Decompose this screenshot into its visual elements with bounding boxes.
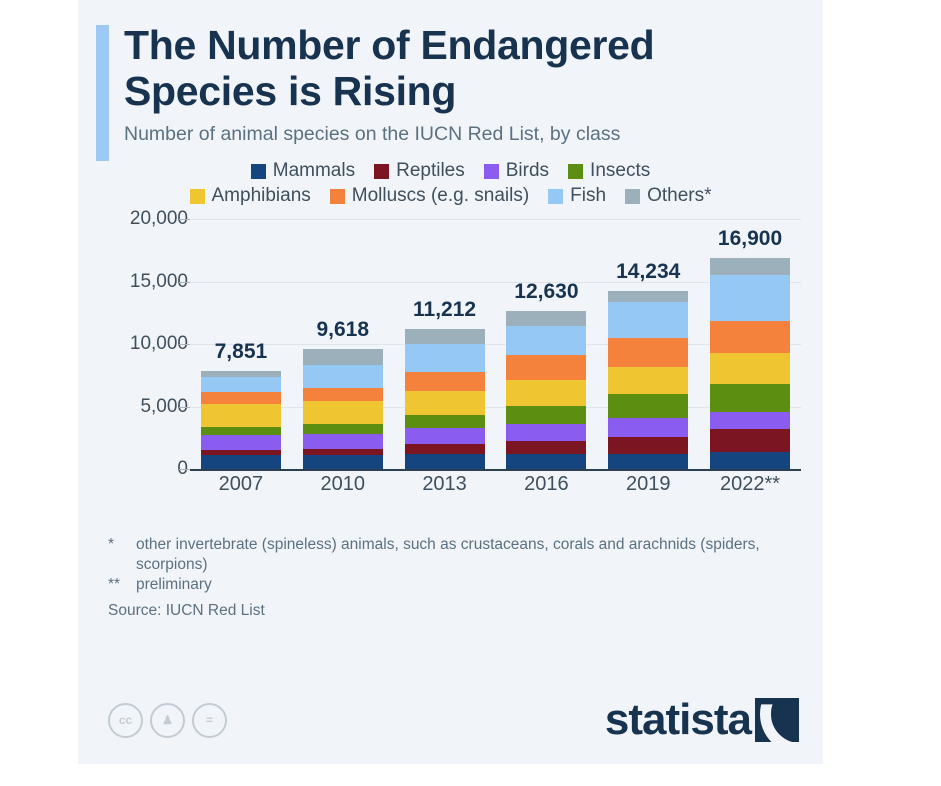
bar-segment[interactable] — [303, 424, 383, 433]
y-tick — [179, 469, 190, 470]
bar-segment[interactable] — [201, 392, 281, 404]
bar-total-label: 9,618 — [316, 318, 369, 342]
bar-segment[interactable] — [710, 275, 790, 321]
footnotes: * other invertebrate (spineless) animals… — [78, 519, 823, 595]
legend-item-fish[interactable]: Fish — [548, 185, 606, 207]
bar-total-label: 14,234 — [616, 260, 680, 284]
legend-item-amphibians[interactable]: Amphibians — [190, 185, 311, 207]
bar-group[interactable]: 11,212 — [405, 219, 485, 469]
legend-label-birds: Birds — [506, 160, 549, 182]
bar-segment[interactable] — [405, 444, 485, 454]
bar-segment[interactable] — [608, 291, 688, 302]
stacked-bar[interactable] — [506, 311, 586, 469]
x-tick-label: 2007 — [201, 473, 281, 496]
bar-segment[interactable] — [608, 437, 688, 454]
bar-segment[interactable] — [608, 338, 688, 366]
legend-label-amphibians: Amphibians — [212, 185, 311, 207]
page-subtitle: Number of animal species on the IUCN Red… — [78, 123, 823, 146]
bar-segment[interactable] — [201, 377, 281, 392]
bar-segment[interactable] — [710, 384, 790, 412]
bar-segment[interactable] — [506, 424, 586, 441]
legend-label-mammals: Mammals — [273, 160, 355, 182]
legend-item-birds[interactable]: Birds — [484, 160, 549, 182]
bar-segment[interactable] — [405, 415, 485, 428]
bar-segment[interactable] — [506, 311, 586, 325]
bar-group[interactable]: 9,618 — [303, 219, 383, 469]
bar-total-label: 16,900 — [718, 227, 782, 251]
cc-nd-equals-icon[interactable]: = — [192, 703, 227, 738]
legend-label-molluscs: Molluscs (e.g. snails) — [352, 185, 529, 207]
legend-swatch-insects — [568, 164, 583, 179]
bar-segment[interactable] — [303, 455, 383, 469]
bar-segment[interactable] — [710, 452, 790, 469]
legend-item-mammals[interactable]: Mammals — [251, 160, 355, 182]
legend-swatch-molluscs — [330, 189, 345, 204]
title-accent-bar — [96, 25, 109, 161]
y-tick — [179, 344, 190, 345]
axis-baseline — [190, 469, 801, 471]
bar-segment[interactable] — [303, 388, 383, 401]
footnote-2: ** preliminary — [108, 575, 797, 595]
bar-group[interactable]: 14,234 — [608, 219, 688, 469]
bar-segment[interactable] — [405, 454, 485, 469]
y-tick-label: 0 — [78, 458, 188, 480]
legend-item-molluscs[interactable]: Molluscs (e.g. snails) — [330, 185, 529, 207]
cc-by-person-icon[interactable]: ♟ — [150, 703, 185, 738]
bar-segment[interactable] — [506, 441, 586, 454]
infographic-card: The Number of Endangered Species is Risi… — [78, 0, 823, 764]
bar-segment[interactable] — [608, 454, 688, 469]
bar-group[interactable]: 12,630 — [506, 219, 586, 469]
footer: cc ♟ = statista — [78, 698, 823, 742]
page-title: The Number of Endangered Species is Risi… — [78, 22, 823, 114]
bar-segment[interactable] — [710, 321, 790, 353]
legend-swatch-others — [625, 189, 640, 204]
bar-segment[interactable] — [608, 367, 688, 395]
legend-label-insects: Insects — [590, 160, 650, 182]
statista-wordmark: statista — [605, 698, 751, 742]
bar-total-label: 12,630 — [514, 280, 578, 304]
footnote-1-text: other invertebrate (spineless) animals, … — [136, 535, 797, 575]
footnote-2-text: preliminary — [136, 575, 797, 595]
bar-segment[interactable] — [710, 429, 790, 452]
y-tick-label: 20,000 — [78, 208, 188, 230]
x-tick-label: 2013 — [405, 473, 485, 496]
y-tick-label: 5,000 — [78, 396, 188, 418]
legend-swatch-birds — [484, 164, 499, 179]
y-tick — [179, 219, 190, 220]
x-tick-label: 2022** — [710, 473, 790, 496]
chart-bars: 7,8519,61811,21212,63014,23416,900 — [190, 219, 801, 469]
bar-segment[interactable] — [608, 302, 688, 338]
bar-segment[interactable] — [506, 326, 586, 356]
y-tick-label: 10,000 — [78, 333, 188, 355]
bar-segment[interactable] — [608, 394, 688, 418]
bar-segment[interactable] — [710, 353, 790, 384]
bar-segment[interactable] — [201, 435, 281, 450]
bar-segment[interactable] — [405, 391, 485, 415]
y-tick — [179, 407, 190, 408]
bar-segment[interactable] — [405, 428, 485, 444]
legend-label-fish: Fish — [570, 185, 606, 207]
bar-total-label: 11,212 — [413, 298, 476, 322]
stacked-bar[interactable] — [608, 291, 688, 469]
bar-segment[interactable] — [201, 455, 281, 469]
cc-icon[interactable]: cc — [108, 703, 143, 738]
bar-segment[interactable] — [201, 404, 281, 427]
x-tick-label: 2019 — [608, 473, 688, 496]
stacked-bar[interactable] — [405, 329, 485, 469]
legend-label-reptiles: Reptiles — [396, 160, 465, 182]
bar-segment[interactable] — [303, 349, 383, 365]
legend-swatch-mammals — [251, 164, 266, 179]
x-tick-label: 2016 — [506, 473, 586, 496]
legend-item-insects[interactable]: Insects — [568, 160, 650, 182]
creative-commons-icons: cc ♟ = — [108, 703, 227, 738]
legend-swatch-fish — [548, 189, 563, 204]
bar-total-label: 7,851 — [215, 340, 268, 364]
bar-segment[interactable] — [608, 418, 688, 437]
legend-label-others: Others* — [647, 185, 711, 207]
bar-segment[interactable] — [506, 355, 586, 380]
bar-segment[interactable] — [405, 344, 485, 372]
legend-row-2: Amphibians Molluscs (e.g. snails) Fish O… — [78, 185, 823, 207]
bar-segment[interactable] — [303, 401, 383, 425]
legend-item-others[interactable]: Others* — [625, 185, 711, 207]
stacked-bar[interactable] — [201, 371, 281, 469]
legend-swatch-reptiles — [374, 164, 389, 179]
legend-row-1: Mammals Reptiles Birds Insects — [78, 160, 823, 182]
stacked-bar[interactable] — [303, 349, 383, 469]
y-tick-label: 15,000 — [78, 271, 188, 293]
chart-legend: Mammals Reptiles Birds Insects Amphibian… — [78, 160, 823, 207]
bar-segment[interactable] — [405, 329, 485, 344]
statista-mark-icon — [755, 698, 799, 742]
legend-item-reptiles[interactable]: Reptiles — [374, 160, 465, 182]
source-line: Source: IUCN Red List — [78, 595, 823, 620]
x-axis-labels: 200720102013201620192022** — [190, 473, 801, 496]
y-tick — [179, 282, 190, 283]
stacked-bar[interactable] — [710, 258, 790, 469]
chart-plot-area: 05,00010,00015,00020,000 7,8519,61811,21… — [78, 219, 823, 519]
legend-swatch-amphibians — [190, 189, 205, 204]
bar-group[interactable]: 7,851 — [201, 219, 281, 469]
bar-segment[interactable] — [303, 434, 383, 450]
header: The Number of Endangered Species is Risi… — [78, 0, 823, 146]
bar-segment[interactable] — [506, 406, 586, 424]
footnote-1-mark: * — [108, 535, 127, 575]
bar-segment[interactable] — [303, 365, 383, 388]
bar-group[interactable]: 16,900 — [710, 219, 790, 469]
x-tick-label: 2010 — [303, 473, 383, 496]
footnote-1: * other invertebrate (spineless) animals… — [108, 535, 797, 575]
bar-segment[interactable] — [405, 372, 485, 391]
bar-segment[interactable] — [710, 258, 790, 275]
bar-segment[interactable] — [506, 380, 586, 406]
statista-logo[interactable]: statista — [605, 698, 799, 742]
footnote-2-mark: ** — [108, 575, 127, 595]
bar-segment[interactable] — [506, 454, 586, 469]
bar-segment[interactable] — [201, 427, 281, 435]
bar-segment[interactable] — [710, 412, 790, 430]
y-axis-labels: 05,00010,00015,00020,000 — [78, 219, 188, 469]
